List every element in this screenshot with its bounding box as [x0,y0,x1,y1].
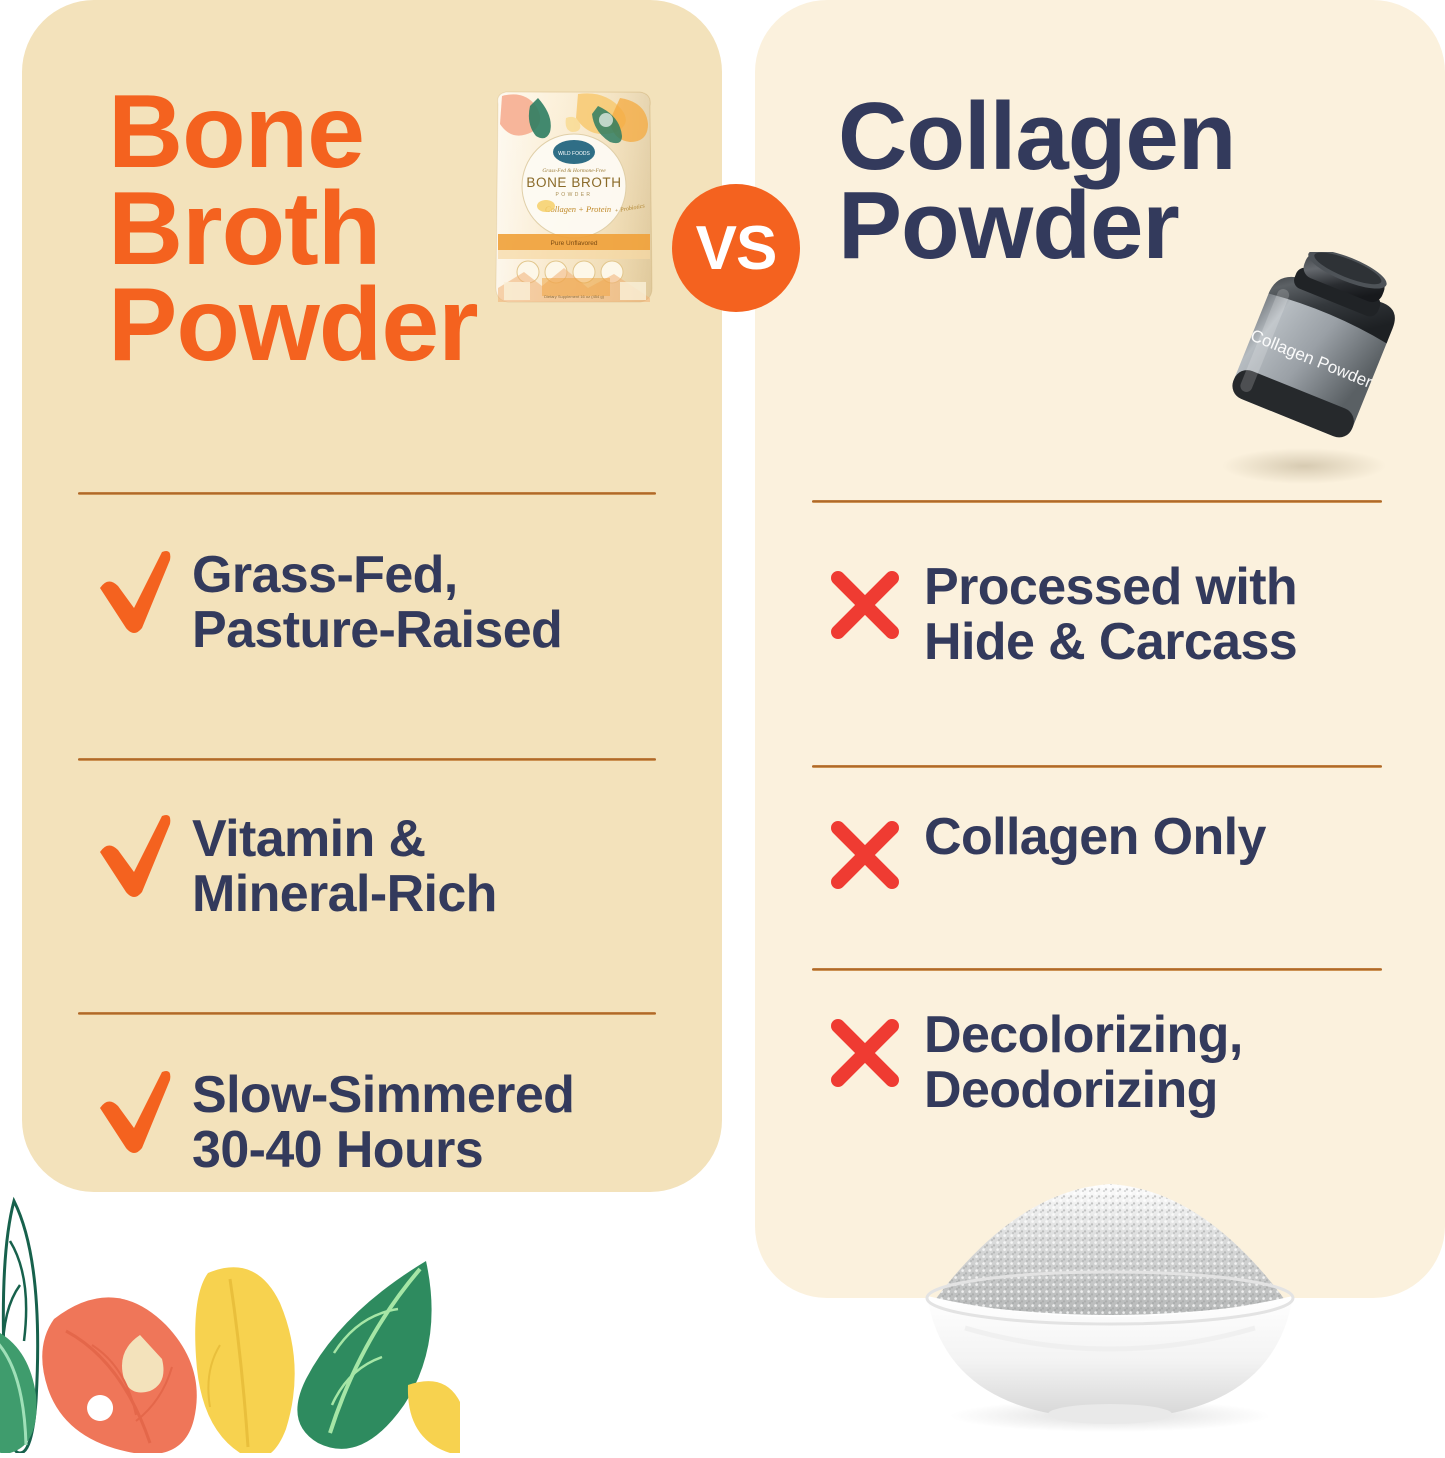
pouch-banner: Pure Unflavored [551,240,598,247]
bone-broth-pouch-image: WILD FOODS Grass-Fed & Hormone-Free BONE… [480,82,666,312]
collagen-powder-bowl-image [905,1178,1315,1440]
tropical-leaves-decoration [0,1195,460,1453]
feature-left-2-label: Vitamin & Mineral-Rich [192,812,497,922]
check-icon [92,550,178,634]
vs-badge: VS [672,184,800,312]
collagen-powder-title: Collagen Powder [838,92,1368,271]
x-icon [826,816,904,894]
feature-right-1-label: Processed with Hide & Carcass [924,560,1297,670]
pouch-brand: WILD FOODS [558,151,590,157]
comparison-infographic: Bone Broth Powder Collagen Powder [0,0,1445,1450]
x-icon [826,566,904,644]
feature-right-3-label: Decolorizing, Deodorizing [924,1008,1243,1118]
feature-right-2-label: Collagen Only [924,810,1266,865]
collagen-jar-image: Collagen Powder [1200,252,1418,488]
feature-right-3: Decolorizing, Deodorizing [826,1008,1243,1118]
feature-left-3-label: Slow-Simmered 30-40 Hours [192,1068,574,1178]
divider-right-1 [812,500,1382,503]
feature-left-3: Slow-Simmered 30-40 Hours [92,1068,574,1178]
feature-left-2: Vitamin & Mineral-Rich [92,812,497,922]
divider-left-2 [78,758,656,761]
feature-right-2: Collagen Only [826,810,1266,894]
divider-right-3 [812,968,1382,971]
divider-left-1 [78,492,656,495]
check-icon [92,814,178,898]
feature-right-1: Processed with Hide & Carcass [826,560,1297,670]
pouch-tagline: Grass-Fed & Hormone-Free [542,168,606,174]
divider-right-2 [812,765,1382,768]
pouch-product-name: BONE BROTH [526,175,621,190]
feature-left-1-label: Grass-Fed, Pasture-Raised [192,548,562,658]
pouch-net-weight: Dietary Supplement 16 oz (454 g) [544,294,604,299]
x-icon [826,1014,904,1092]
divider-left-3 [78,1012,656,1015]
feature-left-1: Grass-Fed, Pasture-Raised [92,548,562,658]
pouch-product-subname: POWDER [556,192,593,198]
check-icon [92,1070,178,1154]
bone-broth-title: Bone Broth Powder [108,84,538,374]
